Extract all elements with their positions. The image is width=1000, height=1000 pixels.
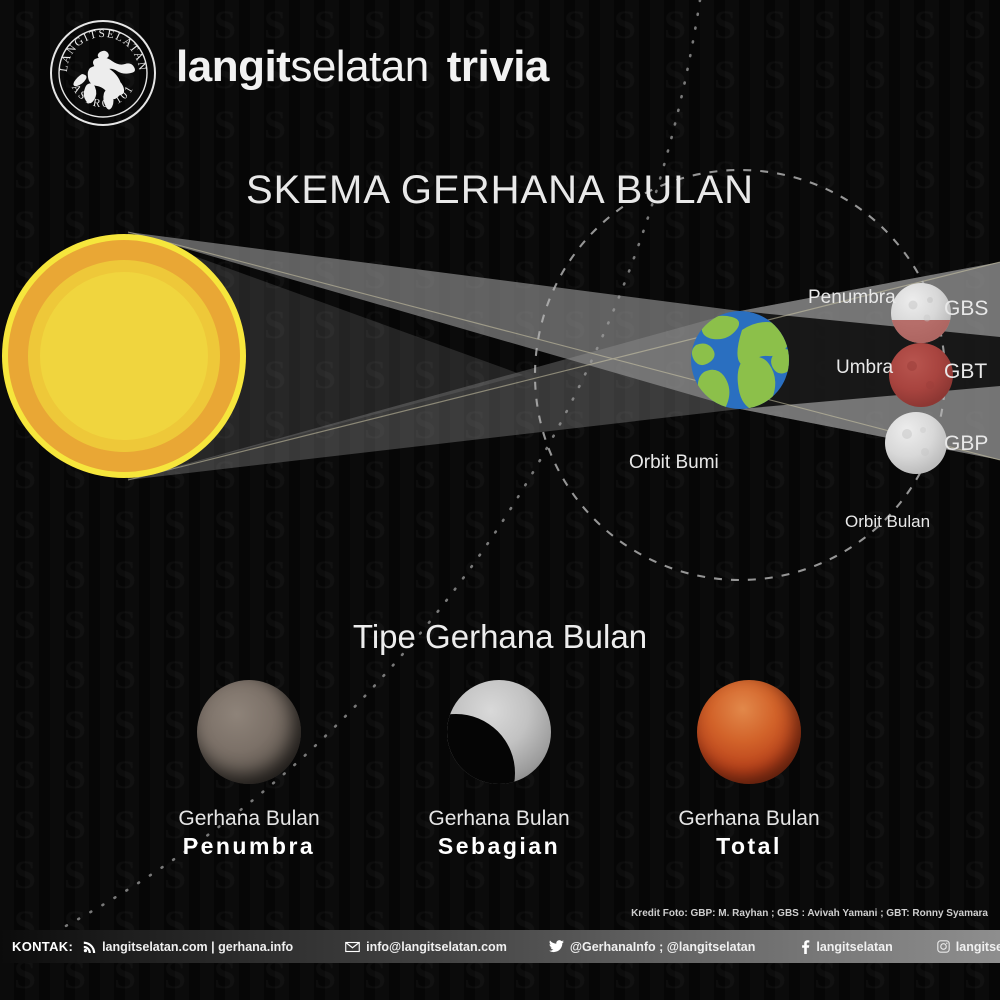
section-title-eclipse-types: Tipe Gerhana Bulan (0, 618, 1000, 656)
moon-partial-photo-icon (447, 680, 551, 784)
langitselatan-logo: LANGITSELATAN ASTRO 101 (48, 18, 158, 128)
label-gbp: GBP (944, 432, 988, 456)
footer-item-twitter[interactable]: @GerhanaInfo ; @langitselatan (549, 940, 756, 954)
brand-wordmark: langitselatantrivia (176, 42, 549, 92)
facebook-icon (801, 940, 810, 954)
moon-penumbral-photo-icon (197, 680, 301, 784)
eclipse-type-line1: Gerhana Bulan (119, 806, 379, 832)
eclipse-type-card: Gerhana Bulan Total (619, 680, 879, 862)
footer-item-facebook[interactable]: langitselatan (801, 940, 892, 954)
footer-item-email[interactable]: info@langitselatan.com (345, 940, 507, 954)
eclipse-type-card: Gerhana Bulan Sebagian (369, 680, 629, 862)
eclipse-type-line2: Penumbra (119, 832, 379, 862)
eclipse-type-line2: Sebagian (369, 832, 629, 862)
footer-item-label: langitselatan (816, 940, 892, 954)
label-umbra: Umbra (836, 357, 893, 379)
instagram-icon (937, 940, 950, 953)
sun-icon (2, 234, 246, 478)
label-gbs: GBS (944, 297, 988, 321)
label-orbit-bulan: Orbit Bulan (845, 512, 930, 532)
eclipse-type-line2: Total (619, 832, 879, 862)
eclipse-type-card: Gerhana Bulan Penumbra (119, 680, 379, 862)
twitter-icon (549, 940, 564, 953)
eclipse-types-row: Gerhana Bulan Penumbra Gerhana Bulan Seb… (0, 680, 1000, 880)
envelope-icon (345, 941, 360, 953)
moon-gbp-icon (885, 412, 947, 474)
brand-bold: langit (176, 42, 290, 91)
label-gbt: GBT (944, 360, 987, 384)
footer-item-instagram[interactable]: langitselatanmedia (937, 940, 1000, 954)
footer-kontak-label: KONTAK: (0, 939, 73, 954)
footer-item-label: info@langitselatan.com (366, 940, 507, 954)
photo-credit: Kredit Foto: GBP: M. Rayhan ; GBS : Aviv… (631, 908, 988, 919)
eclipse-type-line1: Gerhana Bulan (369, 806, 629, 832)
moon-total-photo-icon (697, 680, 801, 784)
label-penumbra: Penumbra (808, 287, 896, 309)
label-orbit-bumi: Orbit Bumi (629, 452, 719, 474)
footer-item-website[interactable]: langitselatan.com | gerhana.info (83, 940, 293, 954)
page-header: LANGITSELATAN ASTRO 101 langitselatantri… (0, 0, 1000, 130)
footer-item-label: @GerhanaInfo ; @langitselatan (570, 940, 756, 954)
brand-suffix: trivia (447, 42, 549, 91)
page-title: SKEMA GERHANA BULAN (0, 168, 1000, 213)
contact-footer-bar: KONTAK: langitselatan.com | gerhana.info… (0, 930, 1000, 963)
footer-item-label: langitselatanmedia (956, 940, 1000, 954)
eclipse-type-line1: Gerhana Bulan (619, 806, 879, 832)
brand-light: selatan (290, 42, 428, 91)
rss-icon (83, 940, 96, 953)
footer-item-label: langitselatan.com | gerhana.info (102, 940, 293, 954)
infographic-canvas: SSSSSSSSSSSSSSSSSSSSSSSSSSSSSSSSSSSSSSSS… (0, 0, 1000, 1000)
